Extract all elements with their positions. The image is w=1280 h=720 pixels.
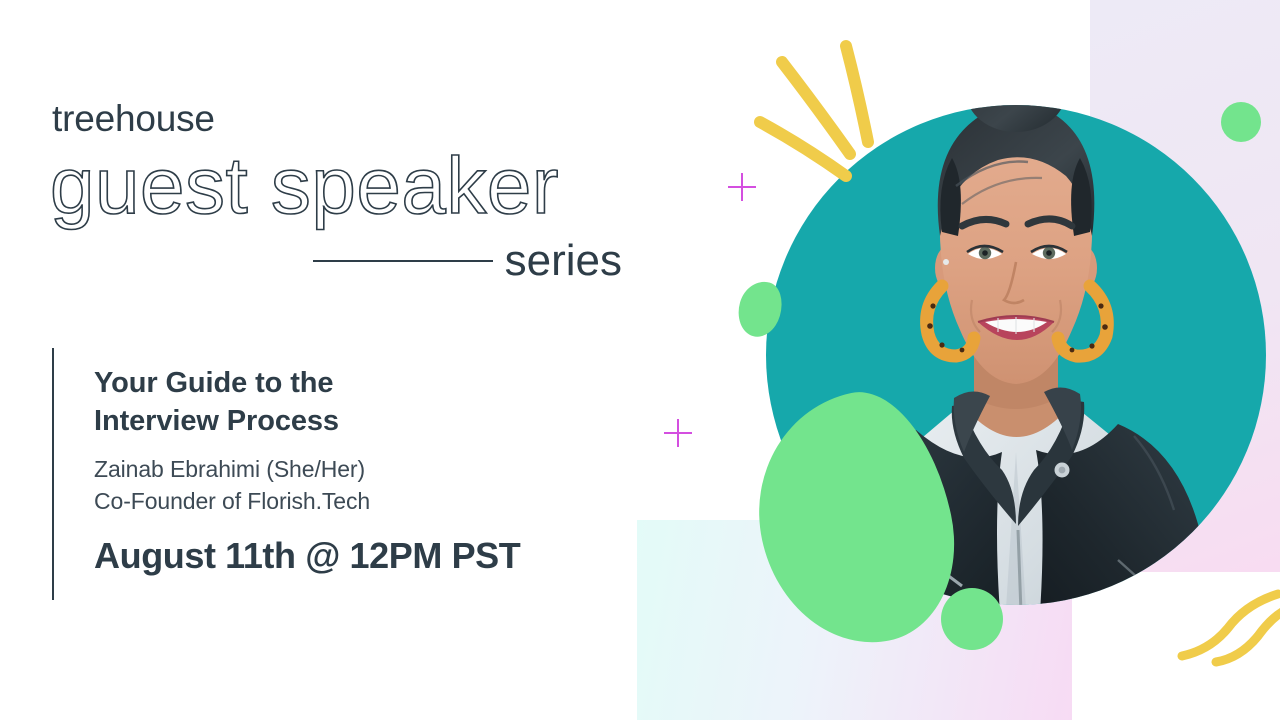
- promo-slide: treehouse guest speaker series Your Guid…: [0, 0, 1280, 720]
- brand-wordmark: treehouse: [52, 100, 650, 137]
- series-label: series: [505, 239, 622, 283]
- speaker-name: Zainab Ebrahimi (She/Her): [94, 453, 520, 486]
- green-circle-bottom: [941, 588, 1003, 650]
- headline-block: treehouse guest speaker series: [50, 100, 650, 283]
- series-divider-rule: [313, 260, 493, 262]
- yellow-rays-icon: [742, 30, 922, 220]
- headline-outline-text: guest speaker: [50, 143, 650, 229]
- event-datetime: August 11th @ 12PM PST: [94, 538, 520, 574]
- green-circle-top: [1221, 102, 1261, 142]
- yellow-squiggles-icon: [1170, 570, 1280, 680]
- event-details-block: Your Guide to the Interview Process Zain…: [52, 348, 520, 600]
- talk-title-line-2: Interview Process: [94, 402, 520, 440]
- series-row: series: [50, 239, 622, 283]
- talk-title: Your Guide to the Interview Process: [94, 364, 520, 441]
- speaker-role: Co-Founder of Florish.Tech: [94, 485, 520, 518]
- talk-title-line-1: Your Guide to the: [94, 364, 520, 402]
- plus-mark-icon-bottom: [664, 419, 692, 447]
